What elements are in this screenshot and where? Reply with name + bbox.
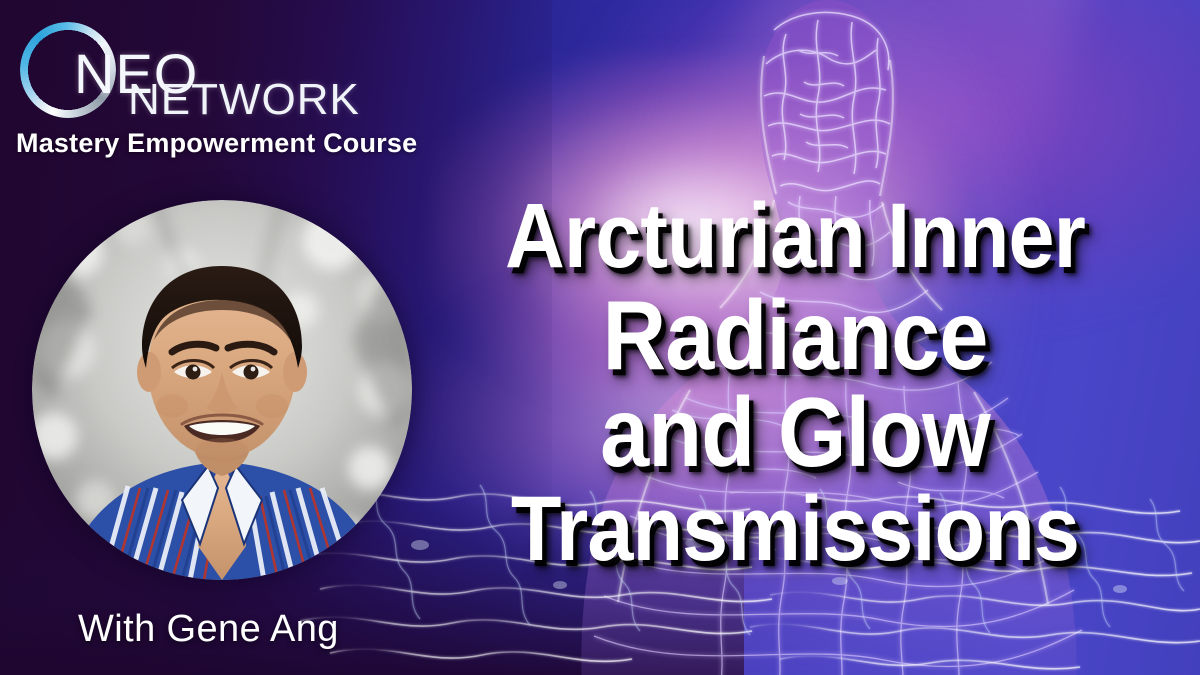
logo-text-network: NETWORK <box>128 78 360 122</box>
title-line-2: Radiance <box>438 286 1153 384</box>
presenter-name: With Gene Ang <box>78 608 339 651</box>
course-subtitle: Mastery Empowerment Course <box>16 128 417 159</box>
brand-logo: NEO NETWORK <box>16 16 346 126</box>
title-line-1: Arcturian Inner <box>438 186 1153 286</box>
thumbnail-canvas: NEO NETWORK Mastery Empowerment Course <box>0 0 1200 675</box>
presenter-avatar <box>32 200 412 580</box>
title-line-3: and Glow <box>438 384 1153 480</box>
video-title: Arcturian Inner Radiance and Glow Transm… <box>398 186 1192 578</box>
title-line-4: Transmissions <box>438 480 1153 578</box>
